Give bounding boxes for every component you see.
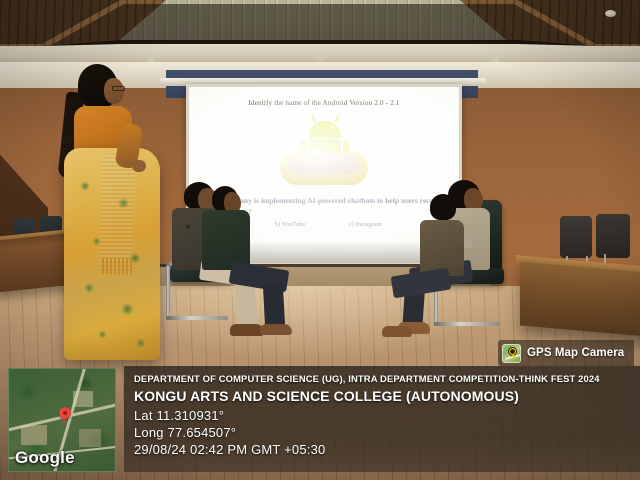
right-back-chair-1 [560,216,592,258]
presenter-face [104,78,124,104]
person-torso [202,210,250,270]
map-thumbnail[interactable]: Google [8,368,116,472]
seated-person-left-back [186,186,306,342]
seated-person-right-back [404,190,524,346]
person-shoe [382,326,412,337]
eclair-pastry-icon [280,151,368,185]
institution-name: KONGU ARTS AND SCIENCE COLLEGE (AUTONOMO… [134,388,640,404]
map-pin-glyph [508,347,517,356]
google-watermark: Google [15,448,75,468]
android-antenna-right [334,115,339,123]
map-building-block-a [21,425,47,445]
map-building-block-c [79,429,101,447]
presenter-hand [132,160,146,172]
android-eye-left [317,126,320,129]
latitude-value: Lat 11.310931° [134,408,640,423]
right-back-chair-2 [596,214,630,258]
presenter-saree-fringe [102,258,132,274]
person-hair [430,194,456,220]
person-shoe [260,324,292,335]
timestamp-value: 29/08/24 02:42 PM GMT +05:30 [134,442,640,457]
presenter-saree-pallu [98,153,136,272]
standing-presenter [56,62,166,360]
slide-title: Identify the name of the Android Version… [189,99,459,107]
slide-option-c: c) Instagram [349,221,382,228]
smoke-detector-icon [605,10,616,17]
gps-map-camera-label: GPS Map Camera [527,347,624,359]
android-eye-right [331,126,334,129]
android-antenna-left [311,115,316,123]
photo-canvas: Identify the name of the Android Version… [0,0,640,480]
android-eclair-illustration [276,117,372,191]
glasses-icon [112,86,125,91]
eclair-cream-filling [288,156,360,174]
ceiling-fixture-center [318,56,324,60]
event-title: DEPARTMENT OF COMPUTER SCIENCE (UG), INT… [134,373,640,384]
gps-map-pin-icon [502,344,521,363]
geotag-info-bar: DEPARTMENT OF COMPUTER SCIENCE (UG), INT… [124,366,640,472]
android-head [309,121,341,138]
longitude-value: Long 77.654507° [134,425,640,440]
gps-map-camera-badge: GPS Map Camera [498,340,634,366]
map-location-pin-icon [59,407,71,419]
